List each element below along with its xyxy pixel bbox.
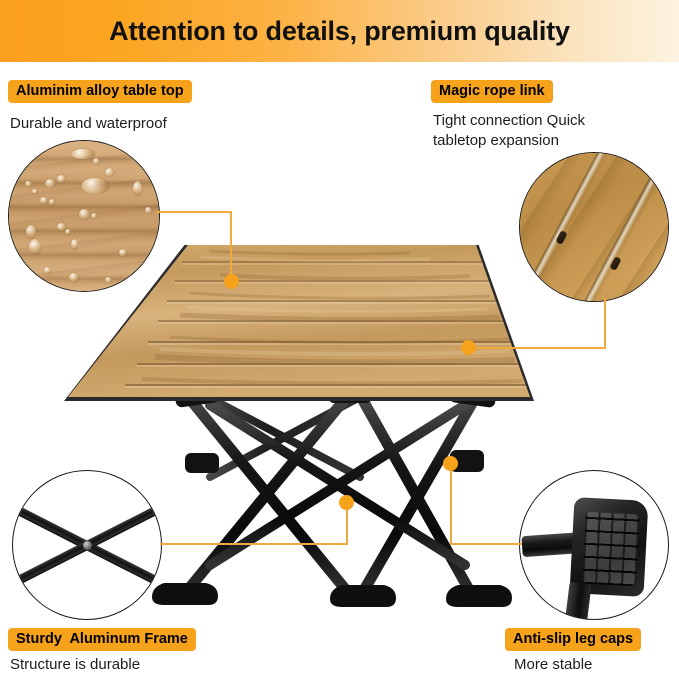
caption-aluminim-alloy-table-top: Durable and waterproof [10, 114, 167, 134]
detail-circle-table-top [8, 140, 160, 292]
caption-magic-rope-link: Tight connection Quick tabletop expansio… [433, 111, 585, 151]
diagonal-wood-surface [519, 152, 669, 302]
detail-circle-rope-link [519, 152, 669, 302]
leader-line-legcaps-h [450, 543, 522, 545]
caption-anti-slip-leg-caps: More stable [514, 655, 592, 673]
leader-line-rope-v [604, 298, 606, 348]
leader-line-table-top-v [230, 211, 232, 281]
detail-circle-sturdy-frame [12, 470, 162, 620]
hotspot-anti-slip-leg-cap [443, 456, 458, 471]
hotspot-rope-link [461, 340, 476, 355]
detail-circle-anti-slip-leg-cap [519, 470, 669, 620]
rubber-leg-cap [570, 497, 649, 597]
badge-magic-rope-link: Magic rope link [431, 80, 553, 103]
tread-texture [582, 512, 640, 587]
leader-line-rope-h [470, 347, 606, 349]
badge-sturdy-aluminum-frame: Sturdy Aluminum Frame [8, 628, 196, 651]
page-title: Attention to details, premium quality [0, 0, 679, 62]
caption-sturdy-aluminum-frame: Structure is durable [10, 655, 140, 673]
badge-anti-slip-leg-caps: Anti-slip leg caps [505, 628, 641, 651]
hotspot-table-top [224, 274, 239, 289]
leader-line-table-top-h [156, 211, 232, 213]
hotspot-sturdy-frame [339, 495, 354, 510]
leader-line-frame-h [160, 543, 348, 545]
leader-line-legcaps-v [450, 463, 452, 544]
badge-aluminim-alloy-table-top: Aluminim alloy table top [8, 80, 192, 103]
product-infographic: Attention to details, premium quality [0, 0, 679, 673]
frame-pivot-rivet [83, 541, 92, 550]
table-leg [562, 582, 591, 620]
